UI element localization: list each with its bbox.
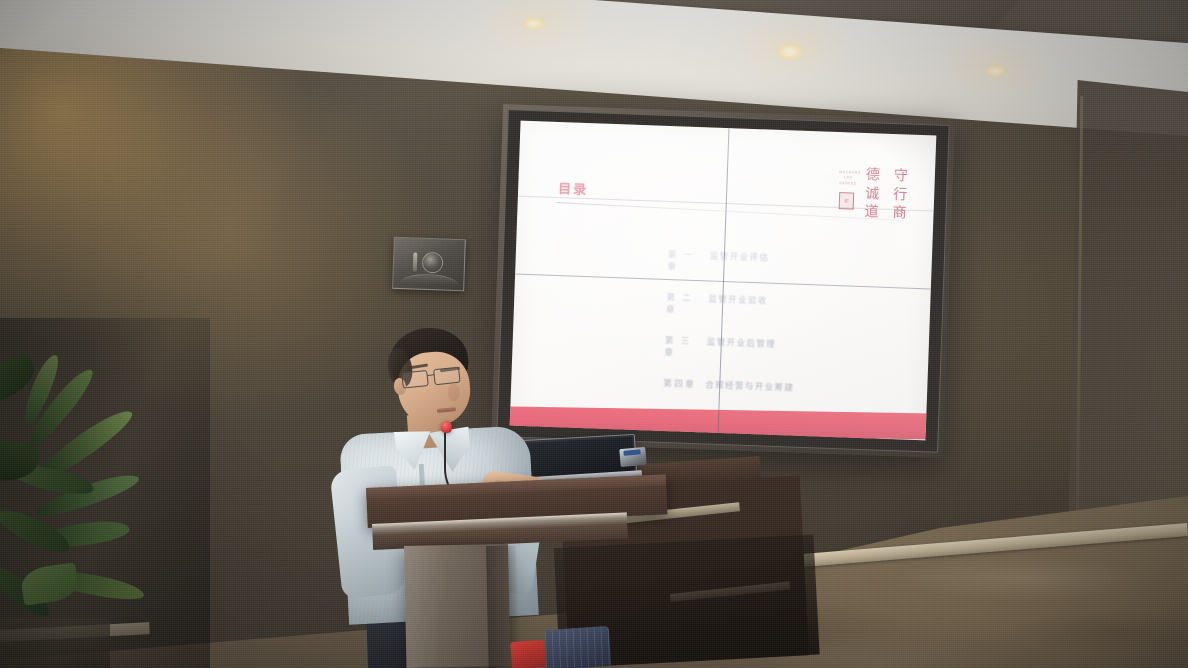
downlight-1-icon bbox=[522, 17, 546, 30]
camera-lens-icon bbox=[422, 252, 444, 274]
navy-bag bbox=[545, 626, 612, 668]
toc-item-3-text: 监管开业后管理 bbox=[707, 335, 777, 349]
navy-bag-texture bbox=[545, 626, 612, 668]
camera-speaker-grille bbox=[399, 273, 459, 287]
toc-item-1: 第 一 章 监管开业评估 bbox=[667, 248, 928, 281]
video-wall-display[interactable]: 目录 第 一 章 监管开业评估 第 二 章 监管开业验收 第 三 章 监管开业后… bbox=[491, 104, 955, 458]
presentation-slide: 目录 第 一 章 监管开业评估 第 二 章 监管开业验收 第 三 章 监管开业后… bbox=[510, 121, 937, 441]
presenter-nose bbox=[448, 384, 460, 401]
toc-item-4: 第四章 合规经营与开业筹建 bbox=[663, 377, 923, 398]
presentation-clicker[interactable] bbox=[619, 447, 646, 467]
toc-item-3: 第 三 章 监管开业后管理 bbox=[664, 334, 925, 367]
toc-item-1-text: 监管开业评估 bbox=[710, 250, 770, 264]
microphone-head-icon[interactable] bbox=[441, 421, 452, 433]
logo-char-1: 德 bbox=[859, 167, 888, 187]
toc-item-2-text: 监管开业验收 bbox=[708, 292, 768, 306]
logo-pinyin-text: WUCHANG LAO BANKED bbox=[838, 166, 858, 187]
downlight-3-icon bbox=[985, 65, 1006, 77]
toc-item-2-number: 第 二 章 bbox=[666, 291, 709, 316]
right-wall-panel bbox=[1068, 80, 1188, 550]
toc-item-3-number: 第 三 章 bbox=[664, 334, 707, 359]
video-conference-camera[interactable] bbox=[392, 237, 466, 291]
logo-char-3: 诚 bbox=[858, 185, 887, 205]
slide-title: 目录 bbox=[558, 178, 589, 198]
plant-pot bbox=[0, 618, 110, 668]
camera-sensor-bar-icon bbox=[413, 252, 418, 271]
glasses-lens-left bbox=[401, 370, 429, 389]
toc-item-1-number: 第 一 章 bbox=[667, 248, 710, 273]
toc-item-2: 第 二 章 监管开业验收 bbox=[666, 291, 927, 324]
logo-char-4: 行 bbox=[886, 186, 915, 206]
downlight-2-icon bbox=[776, 43, 804, 60]
logo-calligraphy-characters: 德 守 诚 行 道 商 bbox=[857, 167, 915, 225]
plant-leaf-10 bbox=[19, 562, 79, 605]
display-bezel: 目录 第 一 章 监管开业评估 第 二 章 监管开业验收 第 三 章 监管开业后… bbox=[496, 109, 949, 453]
clicker-indicator-icon bbox=[623, 449, 640, 455]
logo-pinyin-line-3: BANKED bbox=[838, 181, 857, 187]
logo-char-2: 守 bbox=[886, 168, 915, 188]
red-bag bbox=[510, 640, 546, 668]
toc-item-4-number: 第四章 bbox=[663, 377, 705, 390]
slide-brand-logo: WUCHANG LAO BANKED 印 德 守 诚 行 道 商 bbox=[837, 166, 917, 225]
slide-table-of-contents: 第 一 章 监管开业评估 第 二 章 监管开业验收 第 三 章 监管开业后管理 … bbox=[662, 248, 928, 417]
glasses-lens-right bbox=[433, 367, 461, 386]
potted-plant bbox=[0, 318, 210, 668]
conference-room-photo: 目录 第 一 章 监管开业评估 第 二 章 监管开业验收 第 三 章 监管开业后… bbox=[0, 0, 1188, 668]
